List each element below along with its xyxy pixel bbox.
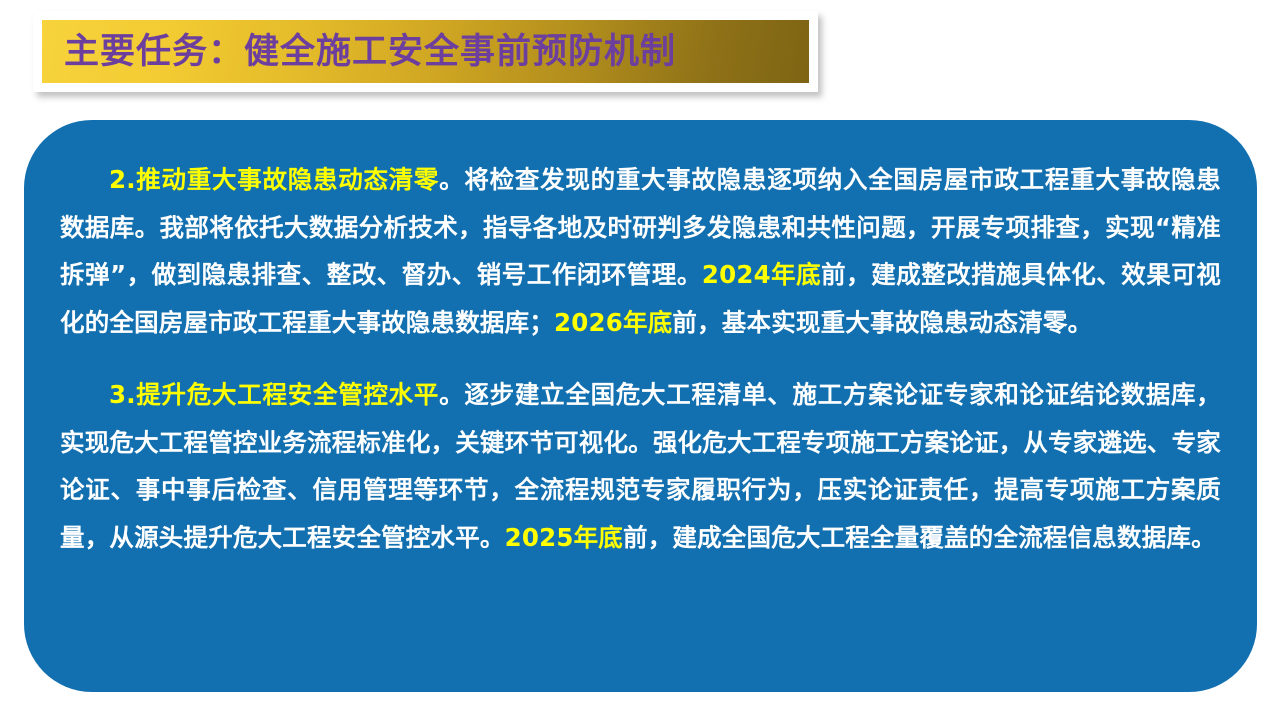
body-text-run: 前，基本实现重大事故隐患动态清零。	[672, 308, 1092, 337]
body-text-run: 前，建成全国危大工程全量覆盖的全流程信息数据库。	[623, 523, 1216, 552]
highlighted-text: 推动重大事故隐患动态清零	[136, 165, 439, 194]
content-panel: 2.推动重大事故隐患动态清零。将检查发现的重大事故隐患逐项纳入全国房屋市政工程重…	[24, 120, 1257, 692]
highlighted-text: 2025年底	[505, 523, 623, 552]
highlighted-text: 2.	[109, 165, 136, 194]
highlighted-text: 2024年底	[702, 260, 821, 289]
highlighted-text: 2026年底	[554, 308, 672, 337]
highlighted-text: 提升危大工程安全管控水平	[136, 380, 439, 409]
slide-title-banner: 主要任务：健全施工安全事前预防机制	[33, 11, 818, 92]
paragraph-3: 3.提升危大工程安全管控水平。逐步建立全国危大工程清单、施工方案论证专家和论证结…	[60, 371, 1221, 561]
slide-title-gold-plate: 主要任务：健全施工安全事前预防机制	[42, 20, 809, 83]
paragraph-2: 2.推动重大事故隐患动态清零。将检查发现的重大事故隐患逐项纳入全国房屋市政工程重…	[60, 156, 1221, 346]
highlighted-text: 3.	[109, 380, 136, 409]
page-title: 主要任务：健全施工安全事前预防机制	[64, 34, 676, 69]
